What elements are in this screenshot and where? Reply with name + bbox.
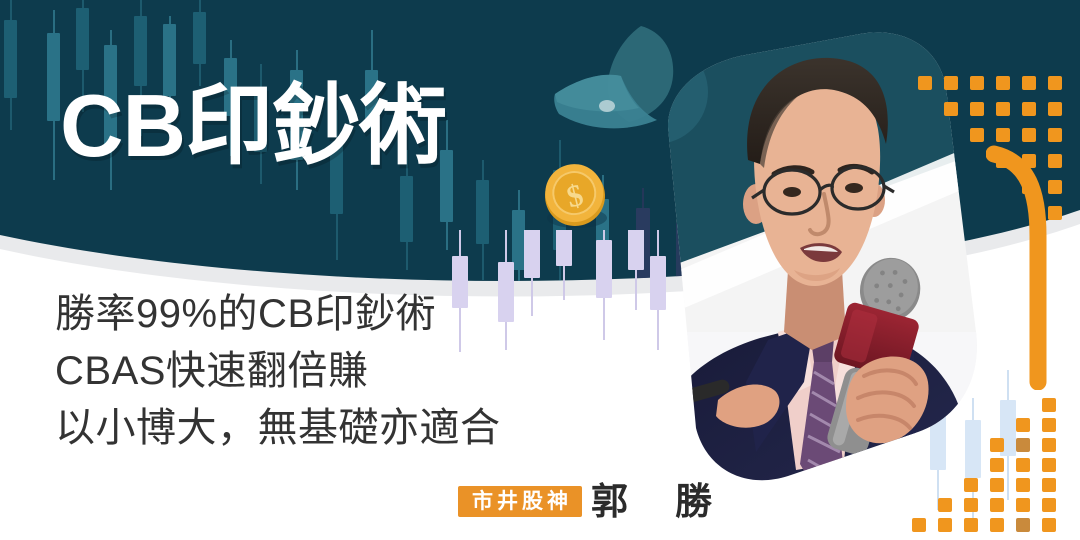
speaker-name-row: 市井股神 郭 勝 (458, 483, 717, 520)
dollar-coin-icon: $ (533, 156, 617, 245)
candlestick (47, 10, 60, 180)
page-title: CB印鈔術 (60, 82, 446, 170)
candlestick (596, 230, 612, 340)
subtitle-line-3: 以小博大，無基礎亦適合 (55, 400, 501, 457)
candlestick (193, 0, 206, 86)
status-badge: 市井股神 (458, 486, 582, 517)
subtitle-line-1: 勝率99%的CB印鈔術 (55, 286, 501, 343)
subtitle-block: 勝率99%的CB印鈔術 CBAS快速翻倍賺 以小博大，無基礎亦適合 (55, 286, 501, 456)
speaker-portrait (628, 32, 980, 540)
subtitle-line-2: CBAS快速翻倍賺 (55, 343, 501, 400)
candlestick (4, 0, 17, 130)
orange-arc-icon (986, 140, 1050, 395)
promo-banner: $ CB印鈔術 勝率99%的CB印鈔術 CBAS快速翻倍賺 以小博大，無基礎亦適… (0, 0, 1080, 540)
speaker-name: 郭 勝 (591, 483, 717, 520)
